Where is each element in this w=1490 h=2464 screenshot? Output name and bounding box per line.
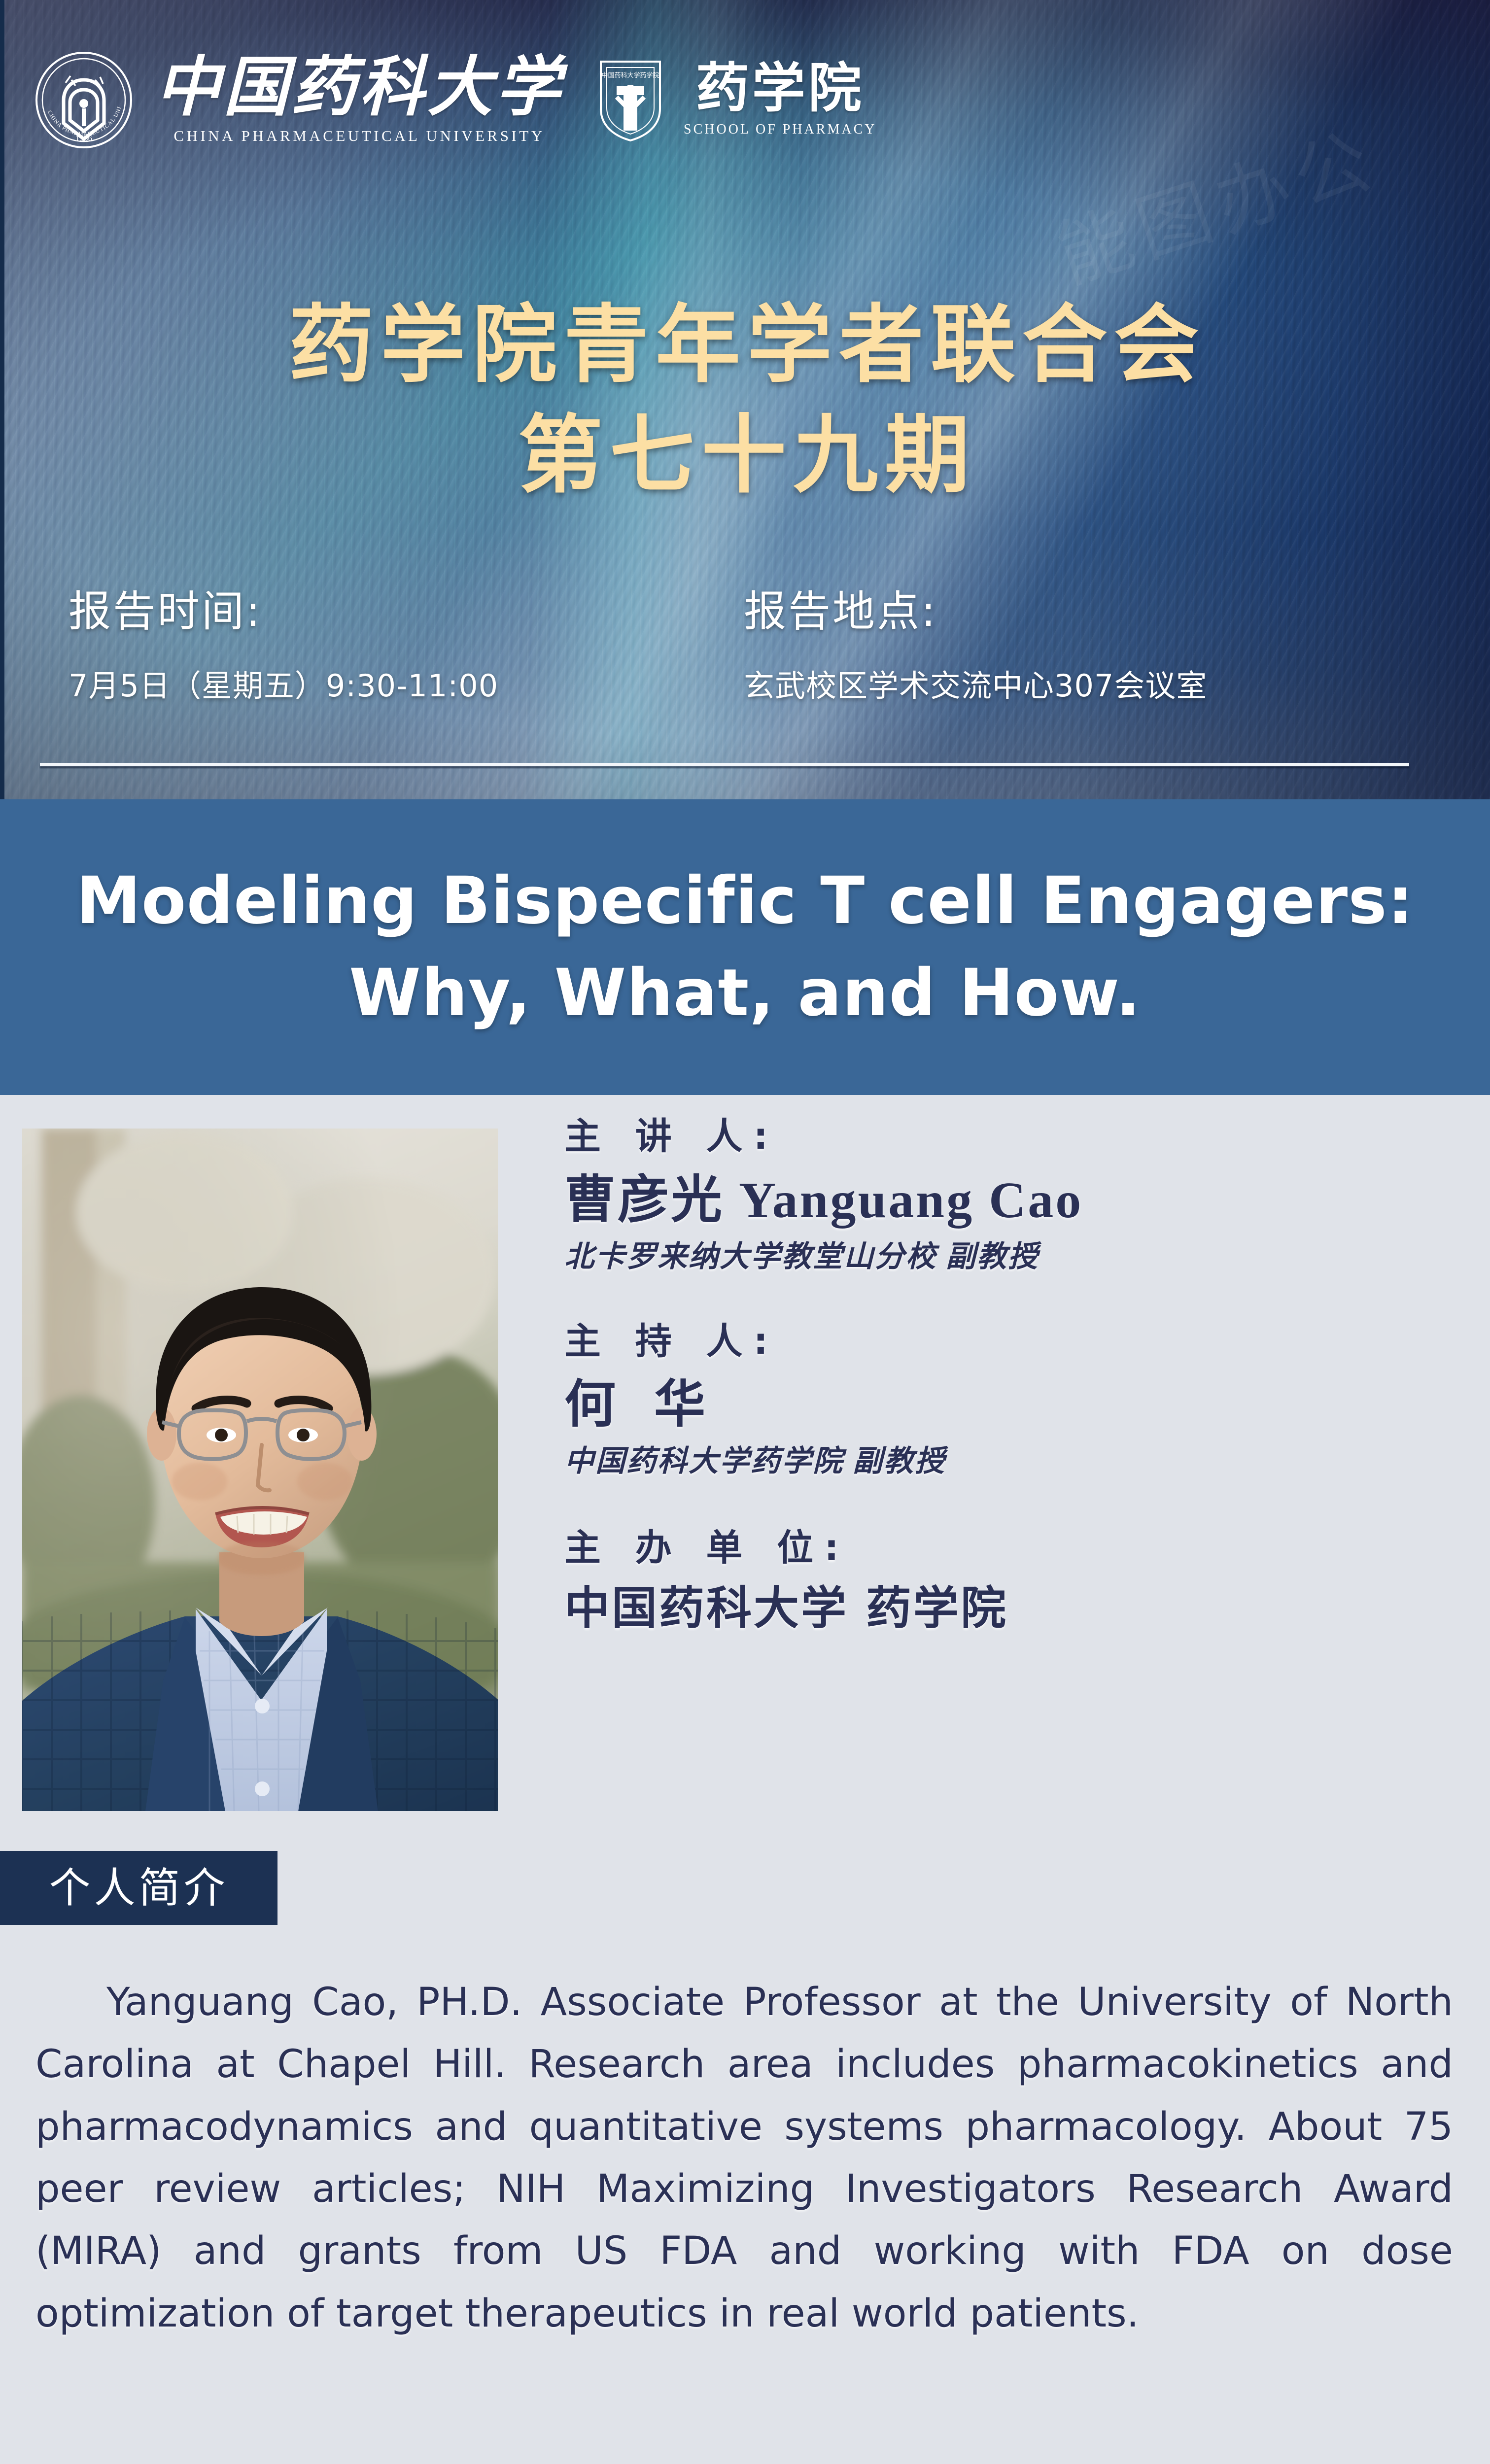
headline-line-2: 第七十九期 (4, 400, 1490, 511)
headline-line-1: 药学院青年学者联合会 (4, 290, 1490, 400)
school-name-cn: 药学院 (696, 63, 865, 116)
event-place-value: 玄武校区学术交流中心307会议室 (744, 668, 1207, 704)
university-name-cn: 中国药科大学 (155, 55, 563, 120)
speaker-portrait (22, 1129, 498, 1811)
shield-text-cn: 中国药科大学药学院 (601, 71, 659, 79)
event-time-label: 报告时间: (69, 586, 498, 637)
host-block: 主 持 人: 何 华 中国药科大学药学院 副教授 (564, 1320, 1452, 1479)
speaker-affiliation: 北卡罗来纳大学教堂山分校 副教授 (564, 1239, 1452, 1274)
talk-title-banner: Modeling Bispecific T cell Engagers: Why… (0, 799, 1490, 1095)
hero-divider-rule (40, 763, 1409, 766)
event-time-value: 7月5日（星期五）9:30-11:00 (69, 668, 498, 704)
school-wordmark: 药学院 SCHOOL OF PHARMACY (684, 63, 876, 137)
speaker-block: 主 讲 人: 曹彦光 Yanguang Cao 北卡罗来纳大学教堂山分校 副教授 (564, 1115, 1452, 1274)
talk-title-line-1: Modeling Bispecific T cell Engagers: (70, 855, 1421, 947)
bio-section: Yanguang Cao, PH.D. Associate Professor … (35, 1971, 1453, 2345)
logo-row: 1936 CHINA PHARMACEUTICAL UNIVERSITY 中国药… (35, 43, 876, 157)
event-place-block: 报告地点: 玄武校区学术交流中心307会议室 (744, 586, 1207, 705)
event-series-headline: 药学院青年学者联合会 第七十九期 (4, 290, 1490, 510)
speaker-name: 曹彦光 Yanguang Cao (564, 1170, 1452, 1231)
speaker-section: 主 讲 人: 曹彦光 Yanguang Cao 北卡罗来纳大学教堂山分校 副教授… (0, 1095, 1490, 1834)
host-role-label: 主 持 人: (564, 1320, 1452, 1364)
university-wordmark: 中国药科大学 CHINA PHARMACEUTICAL UNIVERSITY (155, 55, 563, 145)
organizer-name: 中国药科大学 药学院 (564, 1582, 1452, 1636)
bio-paragraph: Yanguang Cao, PH.D. Associate Professor … (35, 1971, 1453, 2345)
bio-badge-label: 个人简介 (49, 1867, 228, 1909)
university-name-en: CHINA PHARMACEUTICAL UNIVERSITY (173, 127, 545, 145)
speaker-details: 主 讲 人: 曹彦光 Yanguang Cao 北卡罗来纳大学教堂山分校 副教授… (564, 1115, 1452, 1635)
svg-text:CHINA PHARMACEUTICAL UNIVERSIT: CHINA PHARMACEUTICAL UNIVERSITY (35, 51, 123, 137)
organizer-role-label: 主 办 单 位: (564, 1526, 1452, 1570)
host-name: 何 华 (564, 1375, 1452, 1436)
speaker-role-label: 主 讲 人: (564, 1115, 1452, 1159)
school-name-en: SCHOOL OF PHARMACY (684, 122, 876, 137)
talk-title-line-2: Why, What, and How. (70, 947, 1421, 1039)
organizer-block: 主 办 单 位: 中国药科大学 药学院 (564, 1526, 1452, 1635)
bio-section-badge: 个人简介 (0, 1851, 277, 1925)
event-time-block: 报告时间: 7月5日（星期五）9:30-11:00 (69, 586, 498, 705)
event-details: 报告时间: 7月5日（星期五）9:30-11:00 报告地点: 玄武校区学术交流… (4, 586, 1490, 749)
event-place-label: 报告地点: (744, 586, 1207, 637)
university-seal-icon: 1936 CHINA PHARMACEUTICAL UNIVERSITY (35, 51, 133, 149)
seminar-poster: 能图办公 1936 CHINA PHARMACEUTICA (0, 0, 1490, 2464)
school-shield-icon: 中国药科大学药学院 (597, 58, 664, 142)
host-affiliation: 中国药科大学药学院 副教授 (564, 1443, 1452, 1479)
hero-banner: 能图办公 1936 CHINA PHARMACEUTICA (0, 0, 1490, 799)
